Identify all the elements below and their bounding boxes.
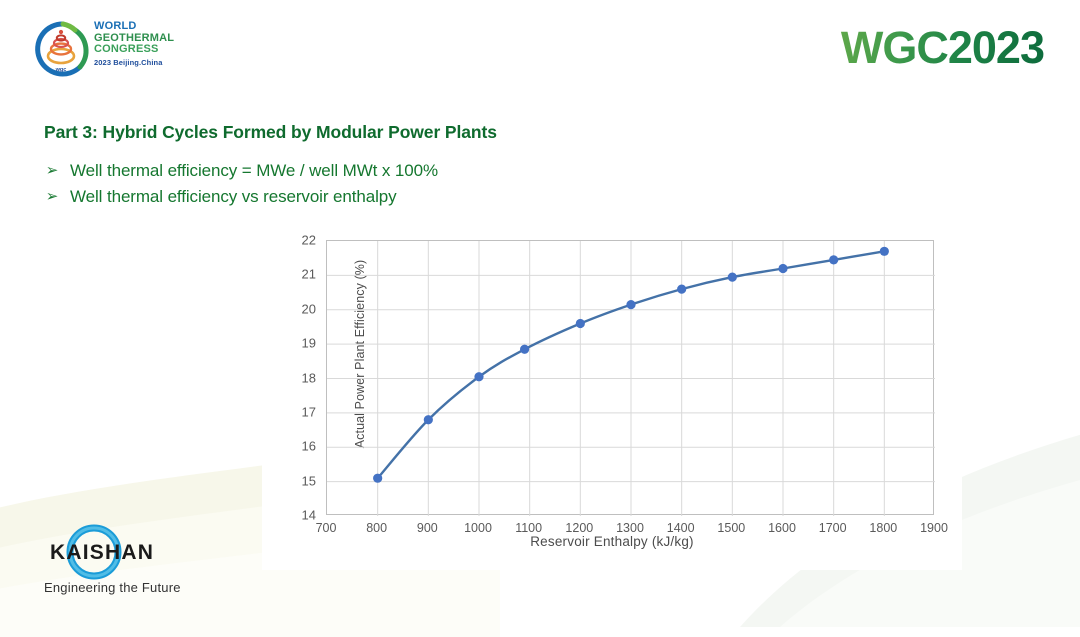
chart-x-axis-title: Reservoir Enthalpy (kJ/kg) <box>262 534 962 549</box>
chart-x-tick: 1300 <box>616 521 644 535</box>
slide-header: wgc WORLD GEOTHERMAL CONGRESS 2023 Beiji… <box>0 0 1080 100</box>
wgc-logo-subtitle: 2023 Beijing.China <box>94 58 174 67</box>
bullet-text: Well thermal efficiency = MWe / well MWt… <box>70 158 438 184</box>
list-item: ➢ Well thermal efficiency = MWe / well M… <box>44 158 438 184</box>
kaishan-tagline: Engineering the Future <box>44 580 181 595</box>
list-item: ➢ Well thermal efficiency vs reservoir e… <box>44 184 438 210</box>
chart-y-tick: 22 <box>302 233 316 248</box>
bullet-text: Well thermal efficiency vs reservoir ent… <box>70 184 397 210</box>
bullet-list: ➢ Well thermal efficiency = MWe / well M… <box>44 158 438 210</box>
chart-x-tick: 900 <box>417 521 438 535</box>
chart-series-layer <box>327 241 935 516</box>
chart-y-tick: 20 <box>302 301 316 316</box>
svg-text:wgc: wgc <box>55 67 67 73</box>
chart-y-tick: 17 <box>302 404 316 419</box>
chart-plot-area <box>326 240 934 515</box>
chart-x-tick: 1500 <box>717 521 745 535</box>
arrow-bullet-icon: ➢ <box>44 158 60 184</box>
wgc-congress-logo: wgc WORLD GEOTHERMAL CONGRESS 2023 Beiji… <box>34 18 179 80</box>
chart-y-tick: 15 <box>302 473 316 488</box>
chart-x-tick: 1700 <box>819 521 847 535</box>
efficiency-line-chart: Actual Power Plant Efficiency (%) 141516… <box>262 225 962 570</box>
chart-y-tick: 18 <box>302 370 316 385</box>
chart-x-tick: 1800 <box>869 521 897 535</box>
chart-y-tick: 21 <box>302 267 316 282</box>
chart-x-tick: 700 <box>316 521 337 535</box>
chart-x-tick: 1000 <box>464 521 492 535</box>
chart-y-axis-ticklabels: 141516171819202122 <box>262 225 322 530</box>
arrow-bullet-icon: ➢ <box>44 184 60 210</box>
kaishan-wordmark: KAISHAN <box>50 541 154 565</box>
chart-x-tick: 1200 <box>565 521 593 535</box>
kaishan-logo: KAISHAN Engineering the Future <box>22 524 202 598</box>
wgc-wordmark: WORLD GEOTHERMAL CONGRESS 2023 Beijing.C… <box>94 21 174 67</box>
chart-y-tick: 19 <box>302 336 316 351</box>
chart-x-tick: 1400 <box>667 521 695 535</box>
page-title: Part 3: Hybrid Cycles Formed by Modular … <box>44 122 497 143</box>
chart-x-tick: 1600 <box>768 521 796 535</box>
wgc2023-brand-title: WGC2023 <box>841 22 1044 74</box>
chart-x-tick: 800 <box>366 521 387 535</box>
chart-y-tick: 16 <box>302 439 316 454</box>
wgc-logo-line-1: WORLD <box>94 21 174 33</box>
chart-x-tick: 1100 <box>515 521 542 535</box>
wgc-emblem-icon: wgc <box>34 20 92 78</box>
wgc-logo-line-3: CONGRESS <box>94 44 174 56</box>
chart-x-tick: 1900 <box>920 521 948 535</box>
